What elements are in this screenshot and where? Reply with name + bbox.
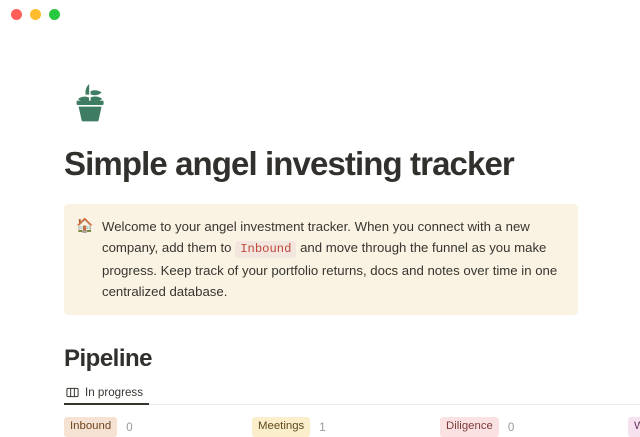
- close-button[interactable]: [11, 9, 22, 20]
- board-view-icon: [66, 386, 79, 399]
- board-column-diligence[interactable]: Diligence 0: [440, 417, 628, 437]
- status-badge[interactable]: W: [628, 417, 640, 437]
- column-count: 0: [508, 421, 514, 434]
- house-emoji: 🏠: [76, 216, 93, 235]
- column-count: 0: [126, 421, 132, 434]
- tab-bar-divider: [64, 404, 640, 405]
- inline-code-inbound: Inbound: [235, 241, 296, 258]
- page-content: Simple angel investing tracker 🏠 Welcome…: [0, 72, 640, 437]
- section-heading-pipeline: Pipeline: [64, 344, 640, 374]
- page-title: Simple angel investing tracker: [64, 144, 640, 184]
- minimize-button[interactable]: [30, 9, 41, 20]
- potted-plant-icon[interactable]: [64, 72, 116, 124]
- board-column-meetings[interactable]: Meetings 1: [252, 417, 440, 437]
- status-badge[interactable]: Inbound: [64, 417, 117, 437]
- window-titlebar: [0, 0, 640, 28]
- tab-in-progress[interactable]: In progress: [64, 386, 149, 405]
- view-tab-bar: In progress: [64, 386, 640, 405]
- tab-label: In progress: [85, 386, 143, 399]
- status-badge[interactable]: Diligence: [440, 417, 499, 437]
- traffic-light-group: [11, 9, 60, 20]
- status-badge[interactable]: Meetings: [252, 417, 310, 437]
- board-column-won-truncated[interactable]: W: [628, 417, 640, 437]
- callout-block: 🏠 Welcome to your angel investment track…: [64, 204, 578, 315]
- column-count: 1: [319, 421, 325, 434]
- callout-text: Welcome to your angel investment tracker…: [102, 216, 564, 302]
- pipeline-board: Inbound 0 Meetings 1 Diligence 0 W: [64, 417, 640, 437]
- board-column-inbound[interactable]: Inbound 0: [64, 417, 252, 437]
- maximize-button[interactable]: [49, 9, 60, 20]
